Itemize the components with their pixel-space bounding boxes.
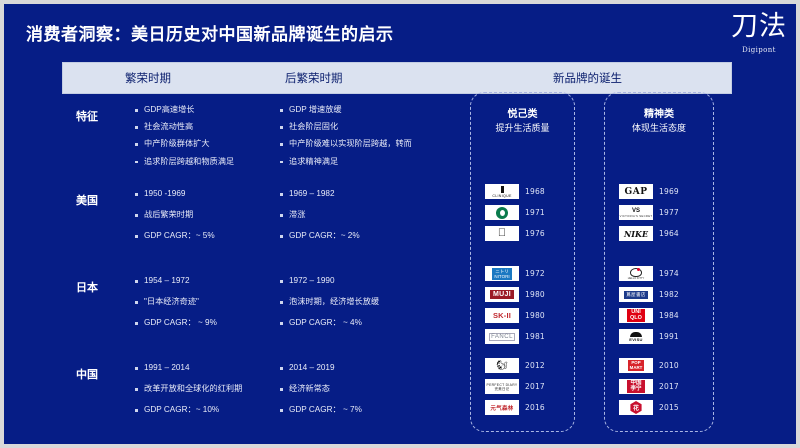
list-item: GDP CAGR：~ 2% — [279, 232, 360, 240]
panel-spirit-japan-brands: HELLO KITTY 1974 蔦屋書店 1982 UNIQLO 1984 E… — [605, 265, 713, 349]
row-usa-post-prosperity: 1969 – 1982 滞涨 GDP CAGR：~ 2% — [279, 190, 360, 250]
clinique-logo-icon: CLINIQUE — [485, 184, 519, 199]
list-item: CLINIQUE 1968 — [471, 183, 574, 200]
brand-year: 1981 — [525, 332, 545, 341]
brand-year: 2017 — [525, 382, 545, 391]
brand-year: 1964 — [659, 229, 679, 238]
list-item: GDP 增速放缓 — [279, 106, 412, 114]
row-japan-post-prosperity: 1972 – 1990 泡沫时期，经济增长放缓 GDP CAGR： ~ 4% — [279, 277, 379, 337]
florasis-logo-icon: 花 — [619, 400, 653, 415]
list-item: GDP CAGR： ~ 9% — [134, 319, 217, 327]
page-title: 消费者洞察：美日历史对中国新品牌诞生的启示 — [26, 20, 394, 45]
list-item: 🐿 2012 — [471, 357, 574, 374]
list-item: 1971 — [471, 204, 574, 221]
brand-logo-english: Digipont — [728, 46, 790, 54]
brand-year: 1980 — [525, 290, 545, 299]
column-header-band: 繁荣时期 后繁荣时期 新品牌的诞生 — [62, 62, 732, 94]
genki-forest-logo-icon: 元气森林 — [485, 400, 519, 415]
brand-year: 1969 — [659, 187, 679, 196]
panel-subtitle: 体现生活态度 — [605, 121, 713, 134]
row-china-prosperity: 1991 – 2014 改革开放和全球化的红利期 GDP CAGR：~ 10% — [134, 364, 242, 424]
panel-subtitle: 提升生活质量 — [471, 121, 574, 134]
brand-logo-chinese: 刀法 — [728, 12, 790, 42]
row-japan-prosperity: 1954 – 1972 "日本经济奇迹" GDP CAGR： ~ 9% — [134, 277, 217, 337]
list-item: GAP 1969 — [605, 183, 713, 200]
brand-logo: 刀法 Digipont — [728, 12, 790, 54]
row-china-post-prosperity: 2014 – 2019 经济新常态 GDP CAGR： ~ 7% — [279, 364, 362, 424]
nike-logo-icon: NIKE — [619, 226, 653, 241]
list-item: GDP CAGR： ~ 4% — [279, 319, 379, 327]
panel-self-japan-brands: ニトリNITORI 1972 MUJI 1980 SK-II 1980 FANC… — [471, 265, 574, 349]
panel-spirit-usa-brands: GAP 1969 VSVICTORIA'S SECRET 1977 NIKE 1… — [605, 183, 713, 246]
skii-logo-icon: SK-II — [485, 308, 519, 323]
panel-title: 精神类 — [605, 105, 713, 120]
list-item: 中产阶级群体扩大 — [134, 140, 234, 148]
list-item: VSVICTORIA'S SECRET 1977 — [605, 204, 713, 221]
row-usa-prosperity: 1950 -1969 战后繁荣时期 GDP CAGR：~ 5% — [134, 190, 215, 250]
list-item:  1976 — [471, 225, 574, 242]
muji-logo-icon: MUJI — [485, 287, 519, 302]
list-item: GDP CAGR：~ 10% — [134, 406, 242, 414]
list-item: MUJI 1980 — [471, 286, 574, 303]
brand-year: 1972 — [525, 269, 545, 278]
brand-year: 2012 — [525, 361, 545, 370]
list-item: GDP CAGR：~ 5% — [134, 232, 215, 240]
list-item: 滞涨 — [279, 211, 360, 219]
list-item: GDP CAGR： ~ 7% — [279, 406, 362, 414]
li-ning-logo-icon: 中国李宁 — [619, 379, 653, 394]
column-header-prosperity: 繁荣时期 — [125, 63, 171, 95]
list-item: 改革开放和全球化的红利期 — [134, 385, 242, 393]
list-item: PERFECT DIARY完美日记 2017 — [471, 378, 574, 395]
hello-kitty-logo-icon: HELLO KITTY — [619, 266, 653, 281]
brand-year: 1977 — [659, 208, 679, 217]
list-item: 1972 – 1990 — [279, 277, 379, 285]
popmart-logo-icon: POPMART — [619, 358, 653, 373]
list-item: 经济新常态 — [279, 385, 362, 393]
brand-year: 1984 — [659, 311, 679, 320]
list-item: 1991 – 2014 — [134, 364, 242, 372]
brand-year: 2017 — [659, 382, 679, 391]
list-item: 蔦屋書店 1982 — [605, 286, 713, 303]
brand-year: 2010 — [659, 361, 679, 370]
list-item: 追求阶层跨越和物质满足 — [134, 158, 234, 166]
uniqlo-logo-icon: UNIQLO — [619, 308, 653, 323]
apple-logo-icon:  — [485, 226, 519, 241]
column-header-new-brands: 新品牌的诞生 — [553, 63, 622, 95]
row-label-features: 特征 — [76, 108, 98, 124]
list-item: EVISU 1991 — [605, 328, 713, 345]
list-item: 泡沫时期，经济增长放缓 — [279, 298, 379, 306]
victorias-secret-logo-icon: VSVICTORIA'S SECRET — [619, 205, 653, 220]
list-item: 1950 -1969 — [134, 190, 215, 198]
perfect-diary-logo-icon: PERFECT DIARY完美日记 — [485, 379, 519, 394]
slide-background: 消费者洞察：美日历史对中国新品牌诞生的启示 刀法 Digipont 繁荣时期 后… — [4, 4, 796, 444]
list-item: 社会流动性高 — [134, 123, 234, 131]
brand-year: 2016 — [525, 403, 545, 412]
list-item: HELLO KITTY 1974 — [605, 265, 713, 282]
evisu-logo-icon: EVISU — [619, 329, 653, 344]
panel-self-pleasure: 悦己类 提升生活质量 CLINIQUE 1968 1971  1976 ニトリ… — [470, 92, 575, 432]
slide-canvas: 消费者洞察：美日历史对中国新品牌诞生的启示 刀法 Digipont 繁荣时期 后… — [0, 0, 800, 448]
panel-spirit-china-brands: POPMART 2010 中国李宁 2017 花 2015 — [605, 357, 713, 420]
panel-spiritual: 精神类 体现生活态度 GAP 1969 VSVICTORIA'S SECRET … — [604, 92, 714, 432]
brand-year: 1974 — [659, 269, 679, 278]
list-item: 社会阶层固化 — [279, 123, 412, 131]
list-item: UNIQLO 1984 — [605, 307, 713, 324]
nitori-logo-icon: ニトリNITORI — [485, 266, 519, 281]
column-header-post-prosperity: 后繁荣时期 — [285, 63, 343, 95]
row-label-usa: 美国 — [76, 192, 98, 208]
starbucks-logo-icon — [485, 205, 519, 220]
gap-logo-icon: GAP — [619, 184, 653, 199]
list-item: 战后繁荣时期 — [134, 211, 215, 219]
brand-year: 1991 — [659, 332, 679, 341]
panel-self-usa-brands: CLINIQUE 1968 1971  1976 — [471, 183, 574, 246]
three-squirrels-logo-icon: 🐿 — [485, 358, 519, 373]
list-item: 1969 – 1982 — [279, 190, 360, 198]
list-item: 2014 – 2019 — [279, 364, 362, 372]
fancl-logo-icon: FANCL — [485, 329, 519, 344]
row-features-post-prosperity: GDP 增速放缓 社会阶层固化 中产阶级难以实现阶层跨越，转而 追求精神满足 — [279, 106, 412, 175]
row-features-prosperity: GDP高速增长 社会流动性高 中产阶级群体扩大 追求阶层跨越和物质满足 — [134, 106, 234, 175]
brand-year: 1982 — [659, 290, 679, 299]
list-item: 1954 – 1972 — [134, 277, 217, 285]
list-item: 中国李宁 2017 — [605, 378, 713, 395]
brand-year: 1976 — [525, 229, 545, 238]
list-item: 花 2015 — [605, 399, 713, 416]
list-item: "日本经济奇迹" — [134, 298, 217, 306]
list-item: NIKE 1964 — [605, 225, 713, 242]
brand-year: 1968 — [525, 187, 545, 196]
panel-title: 悦己类 — [471, 105, 574, 120]
panel-self-china-brands: 🐿 2012 PERFECT DIARY完美日记 2017 元气森林 2016 — [471, 357, 574, 420]
brand-year: 2015 — [659, 403, 679, 412]
list-item: FANCL 1981 — [471, 328, 574, 345]
list-item-continuation: 追求精神满足 — [279, 158, 412, 166]
list-item: SK-II 1980 — [471, 307, 574, 324]
row-label-china: 中国 — [76, 366, 98, 382]
list-item: ニトリNITORI 1972 — [471, 265, 574, 282]
tsutaya-logo-icon: 蔦屋書店 — [619, 287, 653, 302]
brand-year: 1980 — [525, 311, 545, 320]
list-item: 元气森林 2016 — [471, 399, 574, 416]
row-label-japan: 日本 — [76, 279, 98, 295]
brand-year: 1971 — [525, 208, 545, 217]
list-item: POPMART 2010 — [605, 357, 713, 374]
list-item: 中产阶级难以实现阶层跨越，转而 — [279, 140, 412, 148]
list-item: GDP高速增长 — [134, 106, 234, 114]
